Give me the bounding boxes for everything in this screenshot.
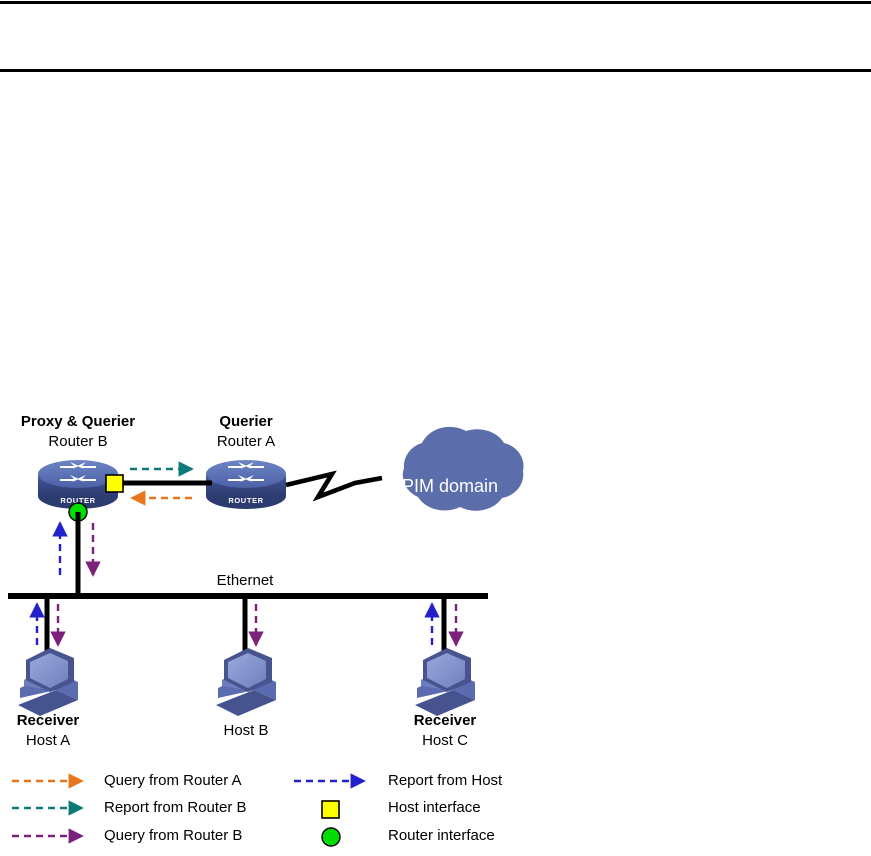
- legend-label-report-from-host: Report from Host: [388, 772, 502, 790]
- page-root: ROUTER ROUTER PIM domain: [0, 0, 871, 856]
- pim-domain-label: PIM domain: [402, 476, 498, 496]
- host-pc-icon-host-b[interactable]: [216, 648, 276, 716]
- host-pc-icon-host-a[interactable]: [18, 648, 78, 716]
- router-icon-router-a[interactable]: ROUTER: [206, 460, 286, 509]
- router-a-name-label: Router A: [217, 433, 275, 451]
- host-pc-icon-host-c[interactable]: [415, 648, 475, 716]
- legend-label-router-interface: Router interface: [388, 827, 495, 845]
- link-router-a-pim-cloud: [286, 474, 382, 497]
- legend-label-host-interface: Host interface: [388, 799, 481, 817]
- router-a-body-text: ROUTER: [228, 496, 263, 505]
- host-c-role-label: Receiver: [414, 712, 477, 730]
- legend-label-report-from-router-b: Report from Router B: [104, 799, 247, 817]
- legend-symbol-router-interface: [322, 828, 340, 846]
- router-a-role-label: Querier: [219, 413, 272, 431]
- host-interface-marker[interactable]: [106, 475, 123, 492]
- router-b-name-label: Router B: [48, 433, 107, 451]
- host-b-name-label: Host B: [223, 722, 268, 740]
- host-a-name-label: Host A: [26, 732, 70, 750]
- legend-symbol-host-interface: [322, 801, 339, 818]
- legend-label-query-from-router-a: Query from Router A: [104, 772, 242, 790]
- host-a-role-label: Receiver: [17, 712, 80, 730]
- cloud-icon-pim-domain[interactable]: PIM domain: [402, 427, 524, 511]
- router-b-role-label: Proxy & Querier: [21, 413, 135, 431]
- ethernet-bus-label: Ethernet: [217, 572, 274, 590]
- legend-label-query-from-router-b: Query from Router B: [104, 827, 242, 845]
- host-c-name-label: Host C: [422, 732, 468, 750]
